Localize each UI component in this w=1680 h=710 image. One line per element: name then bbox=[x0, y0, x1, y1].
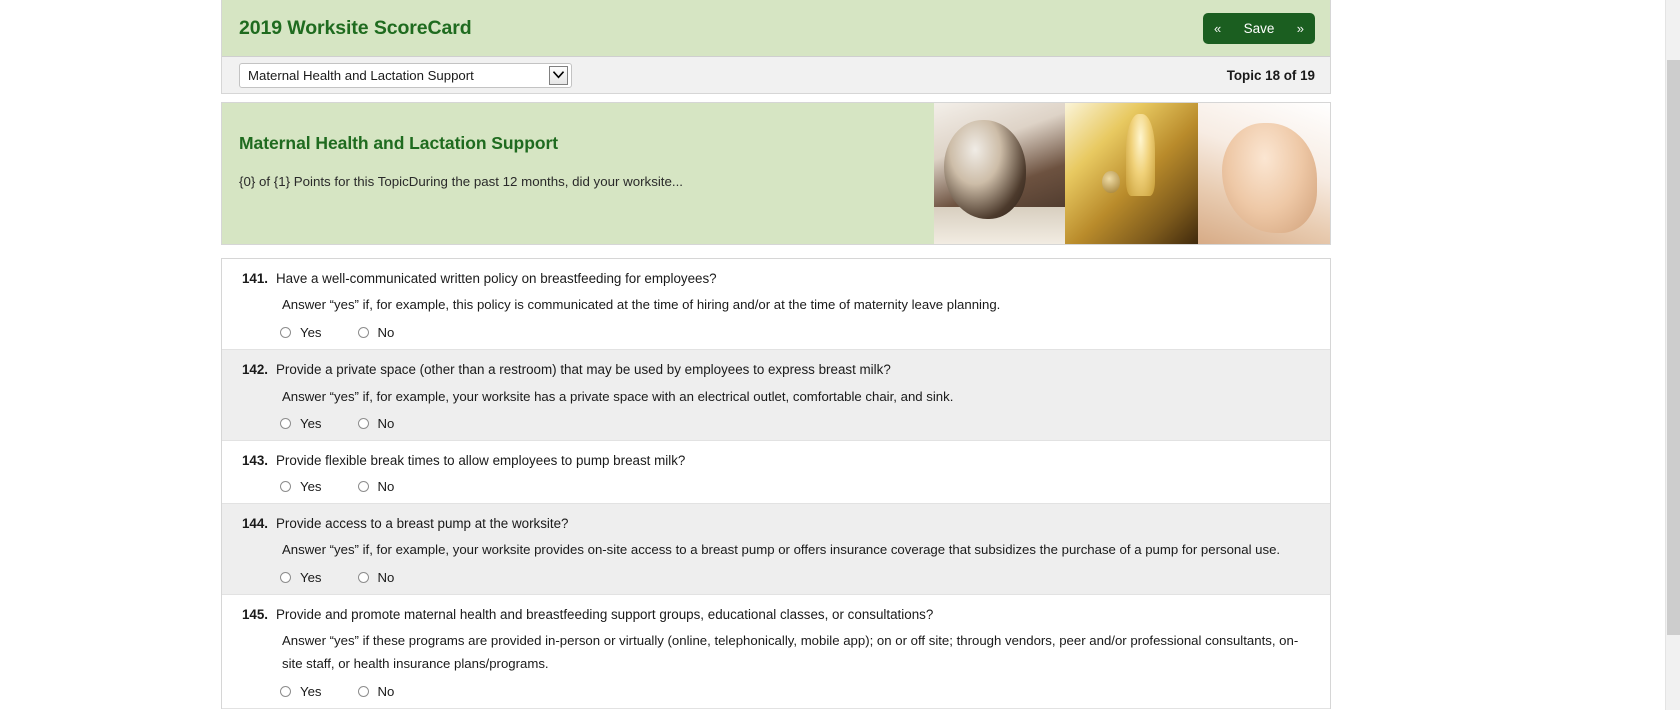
radio-button-icon[interactable] bbox=[280, 327, 291, 338]
question-detail: Answer “yes” if, for example, this polic… bbox=[282, 294, 1316, 317]
question-detail: Answer “yes” if, for example, your works… bbox=[282, 539, 1316, 562]
baby-photo bbox=[1198, 103, 1330, 244]
radio-option-no[interactable]: No bbox=[358, 684, 395, 699]
radio-option-no[interactable]: No bbox=[358, 325, 395, 340]
question-options: YesNo bbox=[280, 684, 1316, 699]
content-column: 2019 Worksite ScoreCard « Save » Materna… bbox=[221, 0, 1331, 709]
door-and-lamp-photo bbox=[1065, 103, 1198, 244]
question-text: Provide flexible break times to allow em… bbox=[276, 451, 1316, 470]
topic-select[interactable]: Maternal Health and Lactation Support bbox=[239, 63, 572, 88]
double-chevron-right-icon[interactable]: » bbox=[1297, 22, 1304, 35]
radio-button-icon[interactable] bbox=[358, 481, 369, 492]
radio-option-yes[interactable]: Yes bbox=[280, 479, 322, 494]
radio-option-no[interactable]: No bbox=[358, 479, 395, 494]
radio-option-label: Yes bbox=[300, 325, 322, 340]
question-detail: Answer “yes” if these programs are provi… bbox=[282, 630, 1316, 675]
radio-option-yes[interactable]: Yes bbox=[280, 416, 322, 431]
topic-counter: Topic 18 of 19 bbox=[1227, 68, 1315, 83]
question-row: 142.Provide a private space (other than … bbox=[222, 350, 1330, 441]
radio-option-label: No bbox=[378, 416, 395, 431]
question-number: 141. bbox=[236, 269, 268, 288]
banner-subtitle: {0} of {1} Points for this TopicDuring t… bbox=[239, 174, 934, 189]
radio-button-icon[interactable] bbox=[358, 572, 369, 583]
question-header: 143.Provide flexible break times to allo… bbox=[236, 451, 1316, 470]
question-text: Provide access to a breast pump at the w… bbox=[276, 514, 1316, 533]
questions-list: 141.Have a well-communicated written pol… bbox=[221, 258, 1331, 709]
question-number: 144. bbox=[236, 514, 268, 533]
question-options: YesNo bbox=[280, 570, 1316, 585]
question-options: YesNo bbox=[280, 325, 1316, 340]
radio-option-label: No bbox=[378, 684, 395, 699]
banner-title: Maternal Health and Lactation Support bbox=[239, 133, 934, 154]
question-row: 143.Provide flexible break times to allo… bbox=[222, 441, 1330, 503]
question-detail: Answer “yes” if, for example, your works… bbox=[282, 386, 1316, 409]
save-button[interactable]: « Save » bbox=[1203, 13, 1315, 44]
scrollbar-thumb[interactable] bbox=[1667, 60, 1680, 635]
banner-text-block: Maternal Health and Lactation Support {0… bbox=[222, 103, 934, 244]
radio-option-label: Yes bbox=[300, 570, 322, 585]
question-header: 145.Provide and promote maternal health … bbox=[236, 605, 1316, 624]
radio-button-icon[interactable] bbox=[280, 481, 291, 492]
question-options: YesNo bbox=[280, 416, 1316, 431]
save-button-label: Save bbox=[1221, 21, 1297, 36]
top-panel: 2019 Worksite ScoreCard « Save » Materna… bbox=[221, 0, 1331, 94]
radio-button-icon[interactable] bbox=[358, 686, 369, 697]
page-viewport: 2019 Worksite ScoreCard « Save » Materna… bbox=[0, 0, 1680, 710]
radio-button-icon[interactable] bbox=[358, 418, 369, 429]
double-chevron-left-icon[interactable]: « bbox=[1214, 22, 1221, 35]
radio-button-icon[interactable] bbox=[358, 327, 369, 338]
radio-option-label: No bbox=[378, 570, 395, 585]
question-options: YesNo bbox=[280, 479, 1316, 494]
title-bar: 2019 Worksite ScoreCard « Save » bbox=[222, 0, 1330, 57]
question-text: Have a well-communicated written policy … bbox=[276, 269, 1316, 288]
radio-option-no[interactable]: No bbox=[358, 570, 395, 585]
question-row: 145.Provide and promote maternal health … bbox=[222, 595, 1330, 709]
question-number: 143. bbox=[236, 451, 268, 470]
topic-banner: Maternal Health and Lactation Support {0… bbox=[221, 102, 1331, 245]
question-row: 141.Have a well-communicated written pol… bbox=[222, 259, 1330, 350]
radio-option-label: Yes bbox=[300, 416, 322, 431]
radio-option-label: Yes bbox=[300, 479, 322, 494]
question-text: Provide and promote maternal health and … bbox=[276, 605, 1316, 624]
radio-option-yes[interactable]: Yes bbox=[280, 684, 322, 699]
radio-button-icon[interactable] bbox=[280, 686, 291, 697]
page-title: 2019 Worksite ScoreCard bbox=[239, 17, 472, 40]
question-header: 142.Provide a private space (other than … bbox=[236, 360, 1316, 379]
question-header: 144.Provide access to a breast pump at t… bbox=[236, 514, 1316, 533]
radio-option-yes[interactable]: Yes bbox=[280, 570, 322, 585]
vertical-scrollbar[interactable] bbox=[1665, 0, 1680, 710]
question-number: 145. bbox=[236, 605, 268, 624]
question-header: 141.Have a well-communicated written pol… bbox=[236, 269, 1316, 288]
topic-select-value: Maternal Health and Lactation Support bbox=[240, 68, 474, 83]
question-text: Provide a private space (other than a re… bbox=[276, 360, 1316, 379]
question-number: 142. bbox=[236, 360, 268, 379]
chevron-down-icon[interactable] bbox=[549, 66, 568, 85]
radio-option-label: No bbox=[378, 325, 395, 340]
radio-option-label: Yes bbox=[300, 684, 322, 699]
radio-option-no[interactable]: No bbox=[358, 416, 395, 431]
radio-button-icon[interactable] bbox=[280, 572, 291, 583]
banner-image-strip bbox=[934, 103, 1330, 244]
mother-and-father-photo bbox=[934, 103, 1065, 244]
radio-button-icon[interactable] bbox=[280, 418, 291, 429]
topic-selector-row: Maternal Health and Lactation Support To… bbox=[222, 57, 1330, 93]
question-row: 144.Provide access to a breast pump at t… bbox=[222, 504, 1330, 595]
radio-option-label: No bbox=[378, 479, 395, 494]
radio-option-yes[interactable]: Yes bbox=[280, 325, 322, 340]
